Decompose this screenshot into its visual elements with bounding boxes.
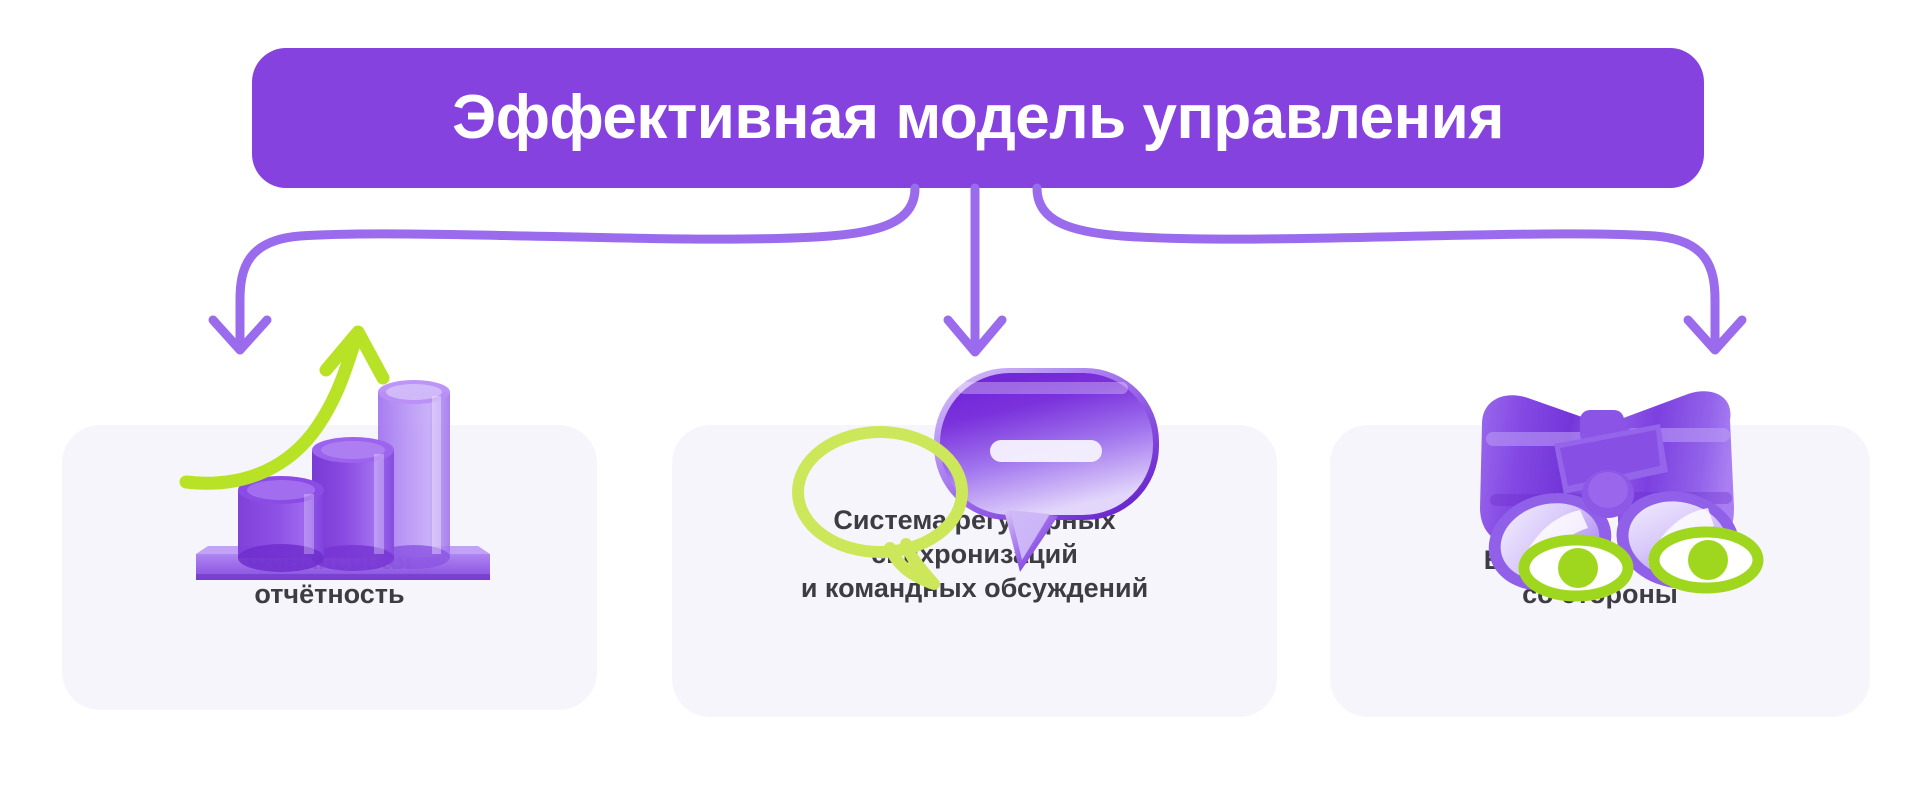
infographic-canvas: Эффективная модель управления .conn{fill… <box>0 0 1920 800</box>
bubble-dash <box>990 440 1102 462</box>
connector-right <box>1037 188 1742 350</box>
purple-speech-bubble <box>934 368 1159 572</box>
binoculars-icon <box>1442 362 1772 607</box>
chart-bar-1 <box>238 476 324 572</box>
chart-bar-2 <box>312 437 394 571</box>
page-title: Эффективная модель управления <box>452 87 1504 149</box>
bar-chart-growth-icon <box>178 322 508 592</box>
title-banner: Эффективная модель управления <box>252 48 1704 188</box>
lime-speech-bubble <box>798 432 962 584</box>
speech-bubbles-icon <box>782 360 1182 595</box>
connector-center <box>948 188 1002 352</box>
